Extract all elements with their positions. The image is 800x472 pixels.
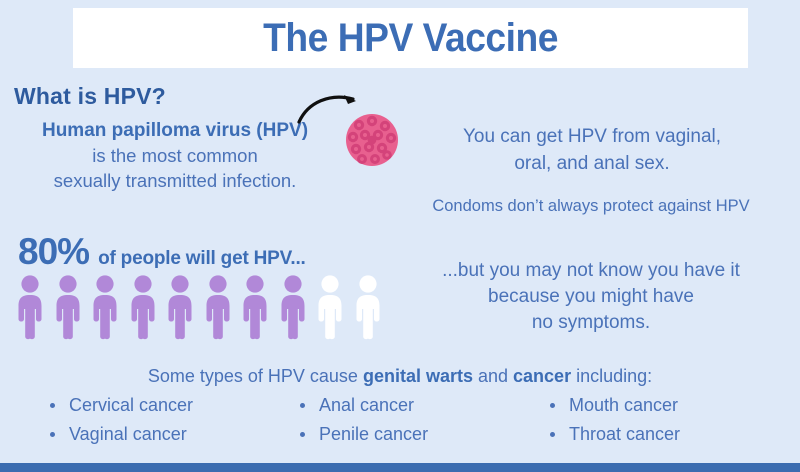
symptoms-line1: ...but you may not know you have it (442, 260, 740, 281)
bullet-dot-icon (300, 403, 305, 408)
hpv-definition-line2: is the most common (92, 145, 258, 166)
causes-suffix: including: (571, 366, 652, 386)
title-banner: The HPV Vaccine (73, 8, 748, 68)
person-icon-filled (202, 275, 234, 341)
people-pictograph (14, 275, 384, 341)
bullet-dot-icon (50, 403, 55, 408)
transmission-line2: oral, and anal sex. (514, 153, 669, 174)
virus-illustration-group (296, 92, 400, 174)
list-item-label: Mouth cancer (569, 394, 678, 417)
transmission-text: You can get HPV from vaginal, oral, and … (392, 123, 792, 177)
person-icon-filled (89, 275, 121, 341)
statistic-line: 80% of people will get HPV... (18, 233, 306, 270)
cancer-types-column-1: Cervical cancer Vaginal cancer (50, 394, 300, 446)
statistic-label: of people will get HPV... (98, 249, 306, 268)
causes-prefix: Some types of HPV cause (148, 366, 363, 386)
statistic-number: 80% (18, 233, 89, 270)
hpv-definition-line3: sexually transmitted infection. (54, 170, 297, 191)
cancer-types-list: Cervical cancer Vaginal cancer Anal canc… (50, 394, 750, 446)
list-item-label: Penile cancer (319, 423, 428, 446)
list-item-label: Cervical cancer (69, 394, 193, 417)
list-item: Mouth cancer (550, 394, 750, 417)
list-item: Throat cancer (550, 423, 750, 446)
transmission-line1: You can get HPV from vaginal, (463, 126, 721, 147)
symptoms-line2: because you might have (488, 286, 694, 307)
list-item-label: Anal cancer (319, 394, 414, 417)
person-icon-filled (14, 275, 46, 341)
bullet-dot-icon (50, 432, 55, 437)
person-icon-filled (277, 275, 309, 341)
bullet-dot-icon (300, 432, 305, 437)
list-item: Vaginal cancer (50, 423, 300, 446)
person-icon-filled (164, 275, 196, 341)
list-item-label: Throat cancer (569, 423, 680, 446)
list-item: Penile cancer (300, 423, 550, 446)
cancer-types-column-2: Anal cancer Penile cancer (300, 394, 550, 446)
bullet-dot-icon (550, 432, 555, 437)
causes-bold-genital-warts: genital warts (363, 366, 473, 386)
bottom-accent-bar (0, 463, 800, 472)
causes-heading: Some types of HPV cause genital warts an… (0, 364, 800, 388)
page-title: The HPV Vaccine (263, 18, 558, 58)
list-item: Anal cancer (300, 394, 550, 417)
hpv-infographic-poster: The HPV Vaccine What is HPV? Human papil… (0, 0, 800, 472)
symptoms-text: ...but you may not know you have it beca… (382, 258, 800, 336)
bullet-dot-icon (550, 403, 555, 408)
list-item-label: Vaginal cancer (69, 423, 187, 446)
causes-middle: and (473, 366, 513, 386)
person-icon-filled (52, 275, 84, 341)
person-icon-empty (314, 275, 346, 341)
cancer-types-column-3: Mouth cancer Throat cancer (550, 394, 750, 446)
person-icon-empty (352, 275, 384, 341)
causes-bold-cancer: cancer (513, 366, 571, 386)
condoms-text: Condoms don’t always protect against HPV (382, 195, 800, 217)
hpv-definition-strong: Human papilloma virus (HPV) (42, 120, 308, 141)
person-icon-filled (239, 275, 271, 341)
list-item: Cervical cancer (50, 394, 300, 417)
what-is-hpv-heading: What is HPV? (14, 83, 166, 110)
symptoms-line3: no symptoms. (532, 312, 650, 333)
person-icon-filled (127, 275, 159, 341)
